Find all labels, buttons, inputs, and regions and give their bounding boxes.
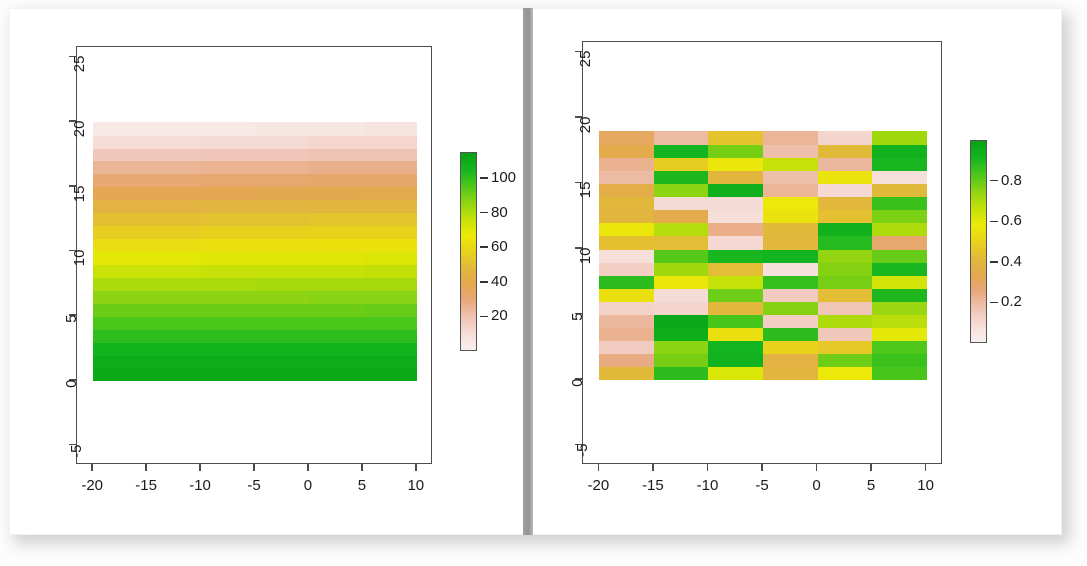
heatmap-cell [201, 161, 256, 175]
y-axis-tick-label: 15 [577, 182, 594, 199]
colorbar-tick-label: 0.6 [1001, 212, 1022, 229]
heatmap-cell [255, 239, 310, 253]
heatmap-cell [93, 290, 148, 304]
heatmap-cell [818, 367, 873, 381]
heatmap-cell [763, 223, 818, 237]
heatmap-cell [818, 262, 873, 276]
y-axis-tick-label: 0 [63, 379, 80, 387]
heatmap-cell [708, 236, 763, 250]
y-axis-tick-label: 15 [71, 185, 88, 202]
heatmap-cell [255, 264, 310, 278]
heatmap-cell [872, 183, 927, 197]
heatmap-cell [201, 329, 256, 343]
heatmap-cell [255, 368, 310, 382]
heatmap-cell [147, 200, 202, 214]
heatmap-cell [872, 327, 927, 341]
heatmap-cell [708, 301, 763, 315]
heatmap-cell [363, 251, 418, 265]
heatmap-cell [872, 170, 927, 184]
heatmap-cell [93, 329, 148, 343]
y-axis-tick-label: 10 [577, 247, 594, 264]
heatmap-cell [763, 327, 818, 341]
heatmap-cell [654, 301, 709, 315]
colorbar-tick [990, 180, 998, 182]
heatmap-cell [201, 200, 256, 214]
heatmap-cell [147, 329, 202, 343]
heatmap-cell [872, 314, 927, 328]
heatmap-cell [309, 161, 364, 175]
heatmap-cell [763, 210, 818, 224]
heatmap-cell [363, 148, 418, 162]
heatmap-cell [255, 174, 310, 188]
heatmap-cell [309, 329, 364, 343]
heatmap-cell [201, 135, 256, 149]
heatmap-cell [201, 251, 256, 265]
heatmap-cell [147, 316, 202, 330]
x-axis-tick [253, 464, 255, 471]
colorbar-tick [480, 177, 488, 179]
colorbar-tick-label: 0.4 [1001, 253, 1022, 270]
heatmap-cell [654, 262, 709, 276]
heatmap-cell [599, 301, 654, 315]
heatmap-cell [599, 275, 654, 289]
heatmap-cell [147, 187, 202, 201]
heatmap-cell [763, 144, 818, 158]
heatmap-cell [708, 354, 763, 368]
x-axis-tick [870, 464, 872, 471]
heatmap-cell [599, 236, 654, 250]
heatmap-cell [708, 367, 763, 381]
x-axis-tick [707, 464, 709, 471]
heatmap-cell [818, 314, 873, 328]
heatmap-cell [93, 264, 148, 278]
heatmap-cell [708, 157, 763, 171]
heatmap-cell [309, 368, 364, 382]
heatmap-cell [872, 301, 927, 315]
figure-root: -20-15-10-50510-50510152025 20406080100 … [0, 0, 1087, 566]
heatmap-cell [309, 277, 364, 291]
heatmap-cell [763, 301, 818, 315]
x-axis-tick-label: -10 [697, 477, 719, 494]
heatmap-cell [93, 355, 148, 369]
colorbar-tick-label: 20 [491, 307, 508, 324]
x-axis-tick [307, 464, 309, 471]
heatmap-cell [654, 327, 709, 341]
heatmap-cell [255, 290, 310, 304]
heatmap-cell [708, 144, 763, 158]
heatmap-cell [147, 290, 202, 304]
heatmap-cell [255, 135, 310, 149]
colorbar-tick [480, 281, 488, 283]
heatmap-cell [599, 144, 654, 158]
heatmap-cell [201, 148, 256, 162]
heatmap-cell [255, 329, 310, 343]
heatmap-cell [763, 157, 818, 171]
x-axis-tick [598, 464, 600, 471]
heatmap-cell [255, 213, 310, 227]
heatmap-cell [201, 355, 256, 369]
heatmap-cell [654, 275, 709, 289]
right-panel: -20-15-10-50510-50510152025 0.20.40.60.8 [533, 0, 1087, 566]
heatmap-cell [309, 122, 364, 136]
heatmap-cell [309, 135, 364, 149]
heatmap-cell [708, 170, 763, 184]
heatmap-cell [93, 135, 148, 149]
heatmap-cell [708, 288, 763, 302]
heatmap-cell [255, 355, 310, 369]
right-colorbar [970, 140, 987, 343]
y-axis-tick-label: -5 [68, 444, 85, 457]
heatmap-cell [654, 288, 709, 302]
heatmap-cell [147, 277, 202, 291]
y-axis-tick-label: 20 [577, 116, 594, 133]
heatmap-cell [708, 341, 763, 355]
heatmap-cell [654, 170, 709, 184]
heatmap-cell [763, 367, 818, 381]
heatmap-cell [599, 170, 654, 184]
heatmap-cell [255, 342, 310, 356]
heatmap-cell [818, 301, 873, 315]
heatmap-cell [708, 197, 763, 211]
x-axis-tick-label: 10 [917, 477, 934, 494]
x-axis-tick [652, 464, 654, 471]
colorbar-tick-label: 100 [491, 169, 516, 186]
heatmap-cell [363, 264, 418, 278]
heatmap-cell [363, 226, 418, 240]
heatmap-cell [147, 148, 202, 162]
heatmap-cell [599, 327, 654, 341]
heatmap-cell [93, 213, 148, 227]
y-axis-tick-label: 5 [569, 313, 586, 321]
heatmap-cell [763, 288, 818, 302]
heatmap-cell [599, 131, 654, 145]
y-axis-tick-label: 5 [63, 315, 80, 323]
heatmap-cell [309, 148, 364, 162]
heatmap-cell [872, 275, 927, 289]
heatmap-cell [763, 314, 818, 328]
x-axis-tick-label: -20 [81, 477, 103, 494]
heatmap-cell [309, 316, 364, 330]
heatmap-cell [201, 226, 256, 240]
heatmap-cell [147, 303, 202, 317]
x-axis-tick [91, 464, 93, 471]
heatmap-cell [255, 200, 310, 214]
heatmap-cell [818, 144, 873, 158]
heatmap-cell [93, 277, 148, 291]
heatmap-cell [599, 183, 654, 197]
x-axis-tick-label: 5 [867, 477, 875, 494]
heatmap-cell [654, 210, 709, 224]
heatmap-cell [818, 223, 873, 237]
colorbar-tick [990, 221, 998, 223]
heatmap-cell [147, 174, 202, 188]
heatmap-cell [818, 354, 873, 368]
x-axis-tick [361, 464, 363, 471]
heatmap-cell [599, 249, 654, 263]
heatmap-cell [763, 275, 818, 289]
heatmap-cell [201, 277, 256, 291]
heatmap-cell [763, 197, 818, 211]
heatmap-cell [818, 249, 873, 263]
heatmap-cell [201, 213, 256, 227]
heatmap-cell [309, 174, 364, 188]
x-axis-tick-label: -10 [189, 477, 211, 494]
heatmap-cell [201, 174, 256, 188]
heatmap-cell [763, 341, 818, 355]
heatmap-cell [93, 239, 148, 253]
heatmap-cell [93, 187, 148, 201]
x-axis-tick-label: 10 [407, 477, 424, 494]
heatmap-cell [147, 161, 202, 175]
heatmap-cell [363, 187, 418, 201]
heatmap-cell [818, 197, 873, 211]
heatmap-cell [599, 210, 654, 224]
heatmap-cell [363, 342, 418, 356]
heatmap-cell [147, 264, 202, 278]
heatmap-cell [872, 367, 927, 381]
x-axis-tick-label: 5 [358, 477, 366, 494]
heatmap-cell [654, 144, 709, 158]
heatmap-cell [599, 197, 654, 211]
heatmap-cell [363, 174, 418, 188]
right-heatmap-canvas [583, 42, 941, 463]
heatmap-cell [93, 226, 148, 240]
heatmap-cell [309, 213, 364, 227]
y-axis-tick-label: 25 [71, 56, 88, 73]
heatmap-cell [147, 251, 202, 265]
heatmap-cell [708, 210, 763, 224]
heatmap-cell [872, 223, 927, 237]
heatmap-cell [147, 342, 202, 356]
heatmap-cell [708, 183, 763, 197]
x-axis-tick-label: -5 [247, 477, 260, 494]
heatmap-cell [872, 157, 927, 171]
heatmap-cell [763, 354, 818, 368]
heatmap-cell [93, 161, 148, 175]
x-axis-tick-label: -5 [755, 477, 768, 494]
heatmap-cell [763, 131, 818, 145]
heatmap-cell [599, 367, 654, 381]
heatmap-cell [818, 210, 873, 224]
right-plot-box [582, 41, 942, 464]
x-axis-tick-label: -15 [642, 477, 664, 494]
heatmap-cell [147, 135, 202, 149]
heatmap-cell [363, 239, 418, 253]
heatmap-cell [309, 290, 364, 304]
heatmap-cell [93, 368, 148, 382]
heatmap-cell [309, 342, 364, 356]
y-axis-tick-label: 0 [569, 378, 586, 386]
heatmap-cell [872, 249, 927, 263]
heatmap-cell [147, 213, 202, 227]
heatmap-cell [201, 122, 256, 136]
y-axis-tick-label: 20 [71, 121, 88, 138]
y-axis-tick-label: 25 [577, 51, 594, 68]
heatmap-cell [147, 368, 202, 382]
heatmap-cell [255, 303, 310, 317]
x-axis-tick-label: -20 [588, 477, 610, 494]
heatmap-cell [872, 236, 927, 250]
colorbar-tick [990, 261, 998, 263]
colorbar-tick [480, 212, 488, 214]
heatmap-cell [363, 355, 418, 369]
heatmap-cell [255, 161, 310, 175]
heatmap-cell [363, 200, 418, 214]
colorbar-tick-label: 80 [491, 204, 508, 221]
x-axis-tick-label: -15 [135, 477, 157, 494]
heatmap-cell [363, 135, 418, 149]
heatmap-cell [309, 264, 364, 278]
x-axis-tick-label: 0 [304, 477, 312, 494]
heatmap-cell [763, 249, 818, 263]
heatmap-cell [363, 161, 418, 175]
heatmap-cell [599, 314, 654, 328]
heatmap-cell [147, 122, 202, 136]
heatmap-cell [599, 223, 654, 237]
heatmap-cell [654, 183, 709, 197]
heatmap-cell [363, 290, 418, 304]
heatmap-cell [147, 239, 202, 253]
heatmap-cell [763, 262, 818, 276]
heatmap-cell [93, 122, 148, 136]
left-panel: -20-15-10-50510-50510152025 20406080100 [0, 0, 530, 566]
heatmap-cell [818, 183, 873, 197]
heatmap-cell [363, 213, 418, 227]
heatmap-cell [763, 183, 818, 197]
x-axis-tick [925, 464, 927, 471]
heatmap-cell [708, 262, 763, 276]
heatmap-cell [309, 303, 364, 317]
heatmap-cell [708, 275, 763, 289]
heatmap-cell [872, 288, 927, 302]
heatmap-cell [363, 368, 418, 382]
heatmap-cell [872, 197, 927, 211]
heatmap-cell [818, 275, 873, 289]
heatmap-cell [654, 131, 709, 145]
heatmap-cell [147, 355, 202, 369]
heatmap-cell [818, 288, 873, 302]
heatmap-cell [309, 355, 364, 369]
colorbar-tick-label: 40 [491, 273, 508, 290]
heatmap-cell [818, 236, 873, 250]
heatmap-cell [363, 316, 418, 330]
x-axis-tick [816, 464, 818, 471]
heatmap-cell [654, 354, 709, 368]
heatmap-cell [363, 277, 418, 291]
heatmap-cell [654, 236, 709, 250]
heatmap-cell [363, 303, 418, 317]
heatmap-cell [599, 288, 654, 302]
heatmap-cell [93, 148, 148, 162]
heatmap-cell [708, 314, 763, 328]
heatmap-cell [708, 131, 763, 145]
heatmap-cell [654, 341, 709, 355]
heatmap-cell [654, 223, 709, 237]
heatmap-cell [93, 342, 148, 356]
heatmap-cell [255, 251, 310, 265]
heatmap-cell [309, 251, 364, 265]
colorbar-tick-label: 0.2 [1001, 293, 1022, 310]
heatmap-cell [872, 131, 927, 145]
heatmap-cell [708, 223, 763, 237]
heatmap-cell [93, 200, 148, 214]
x-axis-tick-label: 0 [812, 477, 820, 494]
heatmap-cell [147, 226, 202, 240]
left-colorbar [460, 152, 477, 351]
y-axis-tick-label: -5 [574, 444, 591, 457]
heatmap-cell [255, 277, 310, 291]
heatmap-cell [255, 122, 310, 136]
x-axis-tick [145, 464, 147, 471]
heatmap-cell [599, 262, 654, 276]
heatmap-cell [363, 329, 418, 343]
colorbar-tick [990, 302, 998, 304]
heatmap-cell [708, 249, 763, 263]
heatmap-cell [654, 249, 709, 263]
heatmap-cell [872, 341, 927, 355]
heatmap-cell [255, 148, 310, 162]
heatmap-cell [599, 354, 654, 368]
heatmap-cell [654, 197, 709, 211]
heatmap-cell [599, 157, 654, 171]
heatmap-cell [599, 341, 654, 355]
heatmap-cell [255, 316, 310, 330]
heatmap-cell [201, 342, 256, 356]
heatmap-cell [201, 264, 256, 278]
heatmap-cell [201, 368, 256, 382]
heatmap-cell [872, 262, 927, 276]
heatmap-cell [201, 303, 256, 317]
heatmap-cell [763, 170, 818, 184]
heatmap-cell [201, 239, 256, 253]
heatmap-cell [763, 236, 818, 250]
heatmap-cell [708, 327, 763, 341]
heatmap-cell [363, 122, 418, 136]
colorbar-tick [480, 246, 488, 248]
heatmap-cell [201, 187, 256, 201]
colorbar-tick-label: 60 [491, 238, 508, 255]
heatmap-cell [818, 131, 873, 145]
heatmap-cell [201, 316, 256, 330]
heatmap-cell [309, 200, 364, 214]
heatmap-cell [93, 174, 148, 188]
heatmap-cell [309, 239, 364, 253]
heatmap-cell [309, 226, 364, 240]
heatmap-cell [654, 157, 709, 171]
heatmap-cell [818, 341, 873, 355]
heatmap-cell [872, 354, 927, 368]
x-axis-tick [761, 464, 763, 471]
heatmap-cell [93, 316, 148, 330]
heatmap-cell [93, 251, 148, 265]
heatmap-cell [255, 187, 310, 201]
x-axis-tick [415, 464, 417, 471]
left-heatmap-canvas [77, 47, 431, 463]
heatmap-cell [255, 226, 310, 240]
heatmap-cell [818, 170, 873, 184]
x-axis-tick [199, 464, 201, 471]
heatmap-cell [818, 327, 873, 341]
heatmap-cell [654, 367, 709, 381]
colorbar-tick [480, 316, 488, 318]
heatmap-cell [654, 314, 709, 328]
heatmap-cell [872, 210, 927, 224]
y-axis-tick-label: 10 [71, 250, 88, 267]
heatmap-cell [93, 303, 148, 317]
heatmap-cell [201, 290, 256, 304]
colorbar-tick-label: 0.8 [1001, 172, 1022, 189]
heatmap-cell [309, 187, 364, 201]
